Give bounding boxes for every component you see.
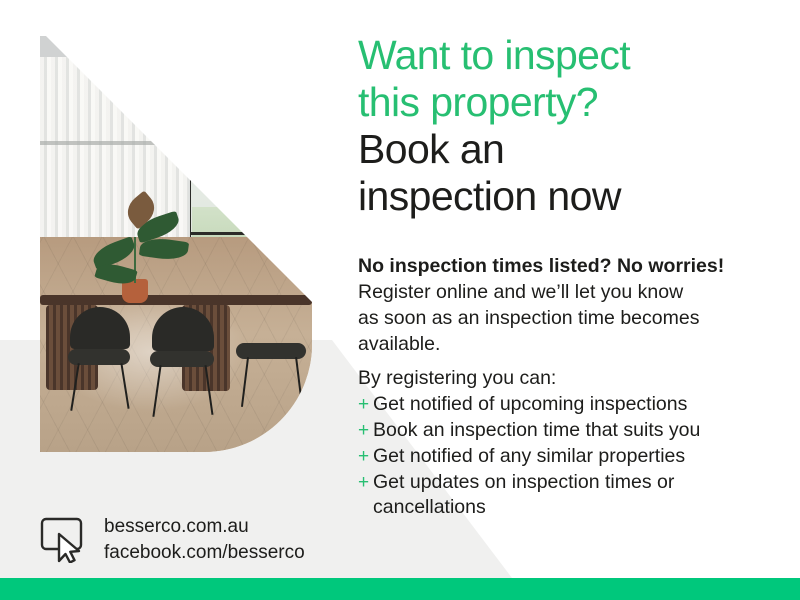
facebook-link[interactable]: facebook.com/besserco bbox=[104, 540, 305, 566]
plus-icon: + bbox=[358, 470, 369, 495]
lede-bold-line: No inspection times listed? No worries! bbox=[358, 253, 768, 279]
list-item-label: Book an inspection time that suits you bbox=[373, 419, 700, 441]
list-item: + Get notified of upcoming inspections bbox=[358, 392, 778, 417]
poster-canvas: Want to inspect this property? Book an i… bbox=[0, 0, 800, 600]
plus-icon: + bbox=[358, 418, 369, 443]
plus-icon: + bbox=[358, 392, 369, 417]
benefits-list: + Get notified of upcoming inspections +… bbox=[358, 392, 778, 520]
lede-line-2: as soon as an inspection time becomes bbox=[358, 305, 768, 331]
headline-green-line-1: Want to inspect bbox=[358, 32, 778, 79]
lede-paragraph: No inspection times listed? No worries! … bbox=[358, 253, 768, 357]
headline-green-line-2: this property? bbox=[358, 79, 778, 126]
dining-table-top bbox=[40, 295, 312, 305]
lede-line-1: Register online and we’ll let you know bbox=[358, 279, 768, 305]
bottom-green-bar bbox=[0, 578, 800, 600]
list-item-label: Get notified of any similar properties bbox=[373, 445, 685, 467]
benefits-block: By registering you can: + Get notified o… bbox=[358, 365, 778, 521]
lede-line-3: available. bbox=[358, 331, 768, 357]
list-item-label: Get updates on inspection times or cance… bbox=[373, 471, 674, 518]
list-item-label: Get notified of upcoming inspections bbox=[373, 393, 687, 415]
headline-block: Want to inspect this property? Book an i… bbox=[358, 32, 778, 220]
plus-icon: + bbox=[358, 444, 369, 469]
headline-dark-line-1: Book an bbox=[358, 126, 778, 173]
list-item: + Get notified of any similar properties bbox=[358, 444, 778, 469]
footer: besserco.com.au facebook.com/besserco bbox=[40, 514, 305, 566]
benefits-intro: By registering you can: bbox=[358, 365, 778, 391]
click-cursor-icon-svg bbox=[40, 517, 90, 563]
copy-column: Want to inspect this property? Book an i… bbox=[358, 0, 778, 600]
footer-links: besserco.com.au facebook.com/besserco bbox=[104, 514, 305, 566]
website-link[interactable]: besserco.com.au bbox=[104, 514, 305, 540]
list-item: + Book an inspection time that suits you bbox=[358, 418, 778, 443]
headline-dark-line-2: inspection now bbox=[358, 173, 778, 220]
list-item: + Get updates on inspection times or can… bbox=[358, 470, 778, 520]
click-cursor-icon bbox=[40, 517, 90, 563]
